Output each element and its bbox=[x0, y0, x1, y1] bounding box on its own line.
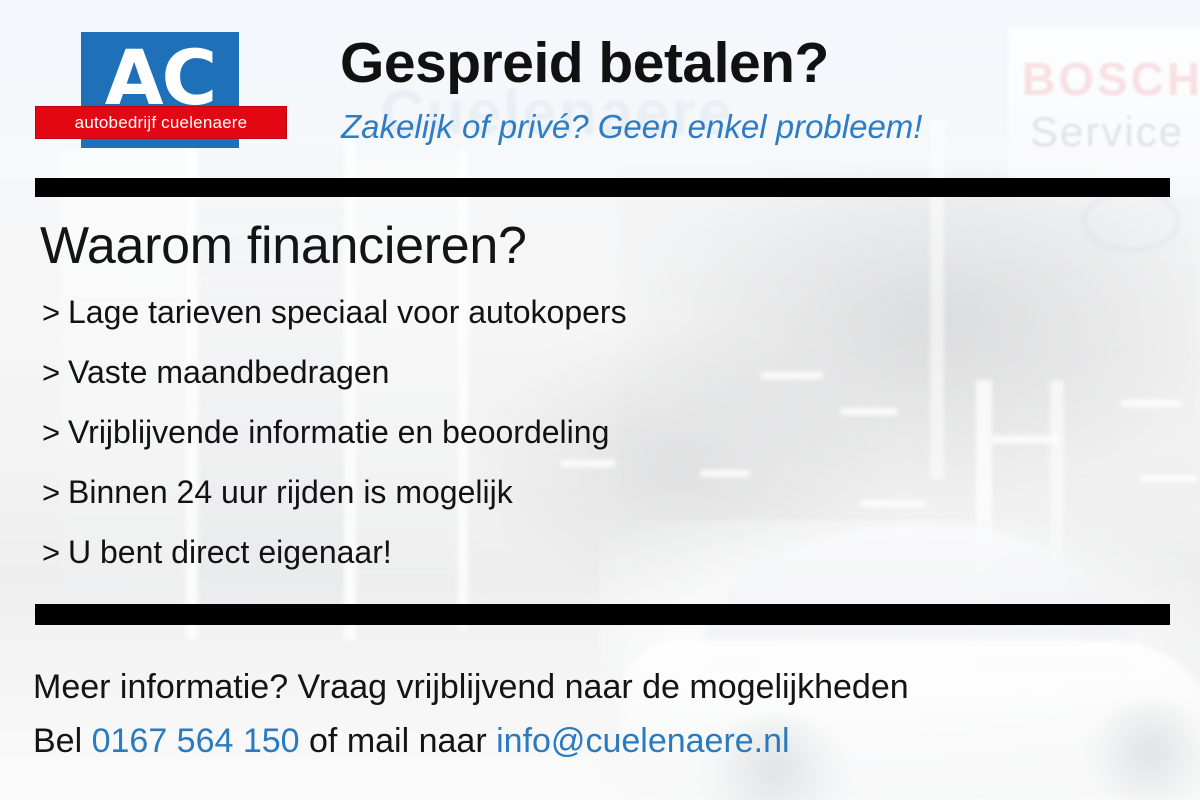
chevron-right-icon: > bbox=[42, 475, 68, 511]
phone-number-link[interactable]: 0167 564 150 bbox=[92, 722, 300, 760]
benefits-list: > Lage tarieven speciaal voor autokopers… bbox=[42, 294, 1042, 594]
footer-contact-line: Bel 0167 564 150 of mail naar info@cuele… bbox=[33, 722, 790, 761]
page-title: Gespreid betalen? bbox=[340, 30, 829, 96]
footer-info-text: Meer informatie? Vraag vrijblijvend naar… bbox=[33, 668, 909, 707]
chevron-right-icon: > bbox=[42, 295, 68, 331]
footer-call-middle: of mail naar bbox=[300, 722, 497, 760]
section-title: Waarom financieren? bbox=[40, 216, 527, 276]
email-link[interactable]: info@cuelenaere.nl bbox=[496, 722, 789, 760]
list-item-label: Binnen 24 uur rijden is mogelijk bbox=[68, 474, 513, 511]
list-item: > U bent direct eigenaar! bbox=[42, 534, 1042, 594]
list-item-label: U bent direct eigenaar! bbox=[68, 534, 392, 571]
financing-poster: Cuelenaere BOSCH Service AC autobedrijf … bbox=[0, 0, 1200, 800]
logo-tagline: autobedrijf cuelenaere bbox=[35, 106, 287, 139]
list-item-label: Lage tarieven speciaal voor autokopers bbox=[68, 294, 627, 331]
list-item-label: Vaste maandbedragen bbox=[68, 354, 389, 391]
company-logo: AC autobedrijf cuelenaere bbox=[35, 32, 287, 152]
list-item: > Lage tarieven speciaal voor autokopers bbox=[42, 294, 1042, 354]
footer-call-prefix: Bel bbox=[33, 722, 92, 760]
page-subtitle: Zakelijk of privé? Geen enkel probleem! bbox=[341, 108, 922, 146]
list-item: > Vaste maandbedragen bbox=[42, 354, 1042, 414]
chevron-right-icon: > bbox=[42, 355, 68, 391]
poster-content: AC autobedrijf cuelenaere Gespreid betal… bbox=[0, 0, 1200, 800]
divider-bottom bbox=[35, 604, 1170, 625]
divider-top bbox=[35, 178, 1170, 197]
list-item-label: Vrijblijvende informatie en beoordeling bbox=[68, 414, 609, 451]
list-item: > Vrijblijvende informatie en beoordelin… bbox=[42, 414, 1042, 474]
chevron-right-icon: > bbox=[42, 415, 68, 451]
chevron-right-icon: > bbox=[42, 535, 68, 571]
list-item: > Binnen 24 uur rijden is mogelijk bbox=[42, 474, 1042, 534]
